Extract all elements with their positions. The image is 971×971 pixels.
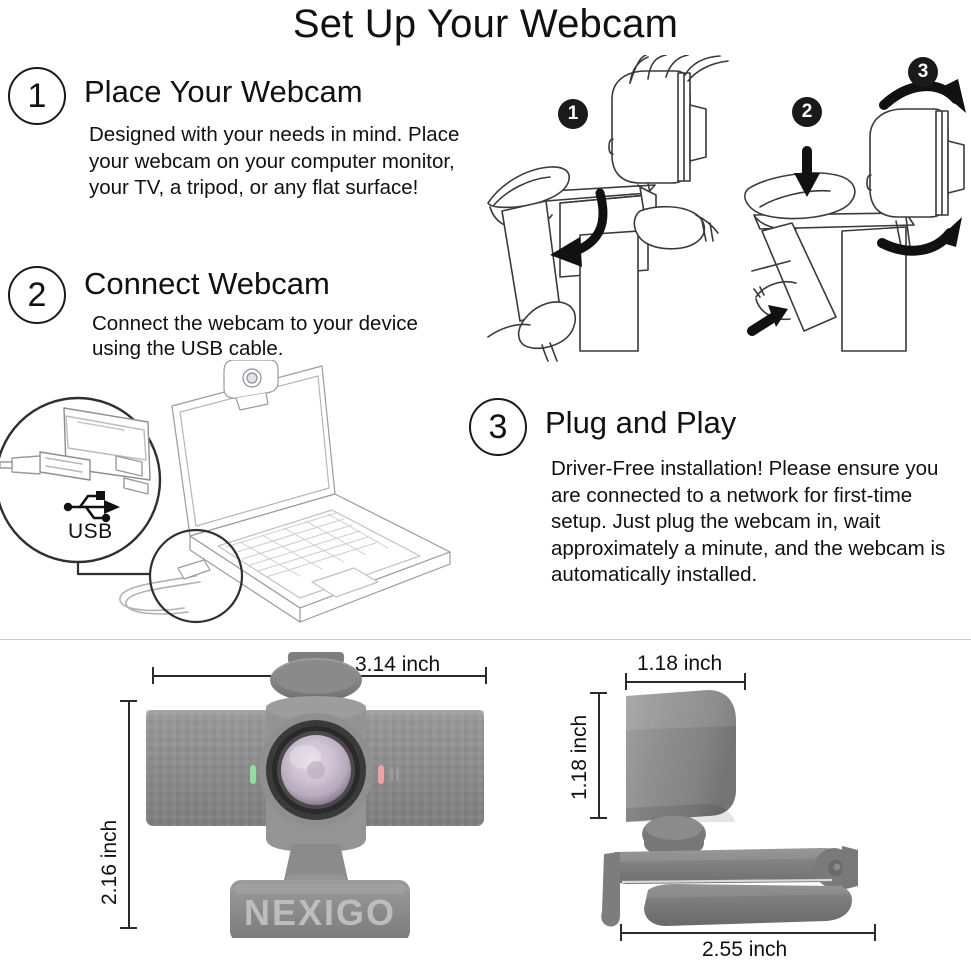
front-height-label: 2.16 inch (98, 820, 122, 905)
step-1-badge: 1 (8, 67, 66, 125)
step-2-badge: 2 (8, 266, 66, 324)
step-1-heading: Place Your Webcam (84, 74, 363, 110)
page-title: Set Up Your Webcam (0, 2, 971, 47)
webcam-side-view (596, 686, 896, 936)
step-3-number: 3 (489, 410, 508, 444)
mount-step-2-badge: 2 (792, 97, 822, 127)
mounting-illustration-2: 2 3 (730, 55, 971, 385)
mount-step-3-badge: 3 (908, 57, 938, 87)
step-2-body: Connect the webcam to your device using … (92, 311, 422, 361)
side-height-label: 1.18 inch (568, 715, 592, 800)
section-divider (0, 639, 971, 640)
mount-step-2-number: 2 (802, 101, 813, 123)
step-1-body: Designed with your needs in mind. Place … (89, 122, 479, 202)
laptop-usb-illustration: USB (0, 360, 470, 630)
step-2-number: 2 (28, 278, 47, 312)
side-top-width-label: 1.18 inch (637, 652, 722, 676)
infographic-page: Set Up Your Webcam 1 Place Your Webcam D… (0, 0, 971, 971)
webcam-front-view: NEXIGO (140, 648, 490, 938)
mount-step-3-number: 3 (918, 61, 929, 83)
usb-callout-label: USB (68, 520, 113, 544)
led-green-indicator (250, 765, 256, 784)
step-3-body: Driver-Free installation! Please ensure … (551, 456, 961, 589)
step-3-heading: Plug and Play (545, 405, 736, 441)
front-height-cap-bottom (120, 927, 137, 929)
front-height-cap-top (120, 700, 137, 702)
mount-step-1-badge: 1 (558, 99, 588, 129)
front-height-rule (128, 700, 130, 928)
brand-wordmark: NEXIGO (244, 892, 396, 933)
side-depth-label: 2.55 inch (702, 938, 787, 962)
step-2-heading: Connect Webcam (84, 266, 330, 302)
led-red-indicator (378, 765, 384, 784)
side-top-width-rule (625, 681, 745, 683)
mount-step-1-number: 1 (568, 103, 579, 125)
mounting-illustration-1: 1 (480, 55, 730, 385)
step-3-badge: 3 (469, 398, 527, 456)
step-1-number: 1 (28, 79, 47, 113)
